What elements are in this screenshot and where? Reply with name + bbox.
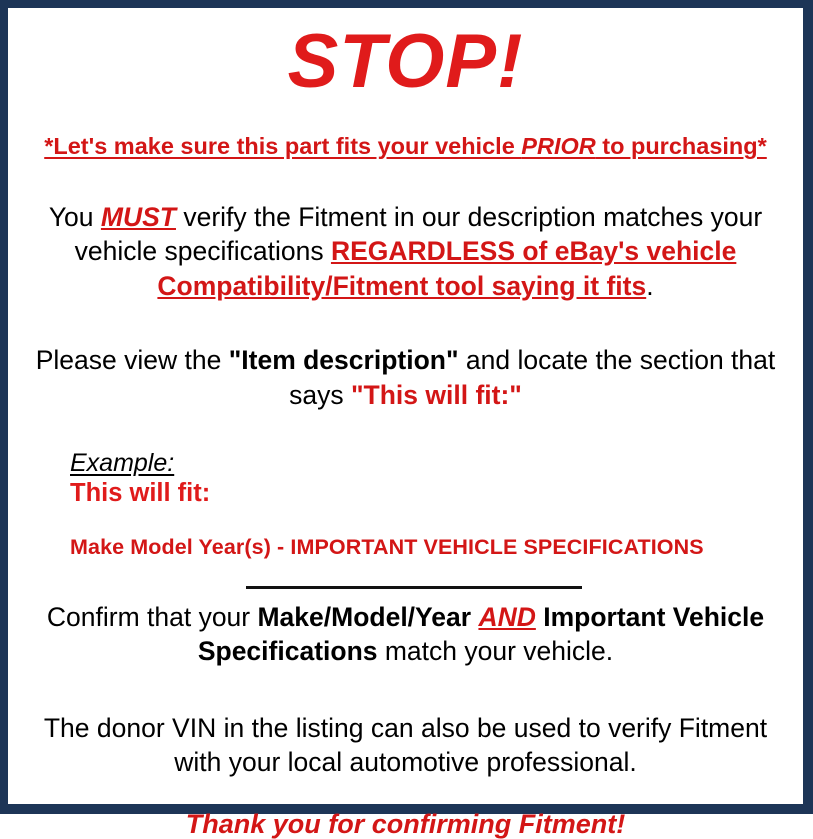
section-divider-wrapper	[26, 586, 785, 600]
subtitle-after: to purchasing*	[596, 133, 767, 159]
this-will-fit-quote: "This will fit:"	[351, 380, 522, 410]
subtitle-before: *Let's make sure this part fits your veh…	[44, 133, 521, 159]
must-emphasis: MUST	[101, 202, 176, 232]
example-block: Example: This will fit: Make Model Year(…	[26, 450, 785, 560]
subtitle-emphasis: PRIOR	[521, 133, 595, 159]
subtitle-banner: *Let's make sure this part fits your veh…	[26, 134, 785, 160]
section-divider	[246, 586, 582, 589]
view-description-paragraph: Please view the "Item description" and l…	[26, 343, 785, 412]
view-text-part-1: Please view the	[36, 345, 229, 375]
example-will-fit-heading: This will fit:	[70, 478, 785, 508]
stop-heading: STOP!	[26, 24, 785, 100]
example-spec-line: Make Model Year(s) - IMPORTANT VEHICLE S…	[70, 536, 785, 560]
must-verify-paragraph: You MUST verify the Fitment in our descr…	[26, 200, 785, 303]
confirm-paragraph: Confirm that your Make/Model/Year AND Im…	[26, 600, 785, 669]
must-text-part-1: You	[49, 202, 101, 232]
make-model-year-emphasis: Make/Model/Year	[257, 602, 471, 632]
donor-vin-paragraph: The donor VIN in the listing can also be…	[26, 711, 785, 780]
fitment-notice-card: STOP! *Let's make sure this part fits yo…	[0, 0, 813, 814]
confirm-text-part-1: Confirm that your	[47, 602, 258, 632]
confirm-text-part-2: match your vehicle.	[378, 636, 614, 666]
example-label: Example:	[70, 450, 785, 477]
must-text-part-3: .	[646, 271, 653, 301]
and-emphasis: AND	[478, 602, 535, 632]
item-description-emphasis: "Item description"	[229, 345, 459, 375]
